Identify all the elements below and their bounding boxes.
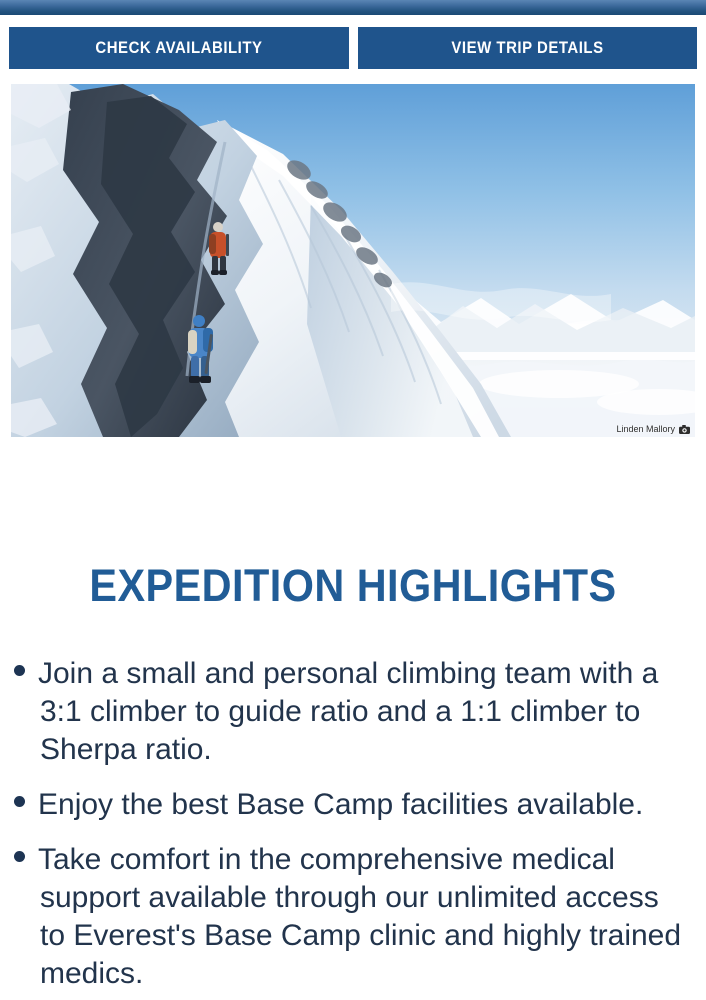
highlight-text: Take comfort in the comprehensive medica… <box>38 843 681 990</box>
page-root: Check Availability View Trip Details <box>0 0 706 1000</box>
hero-photo-graphic <box>11 84 695 437</box>
page-title: Expedition Highlights <box>28 560 678 612</box>
photo-credit-text: Linden Mallory <box>616 425 675 434</box>
view-trip-details-button[interactable]: View Trip Details <box>358 27 698 69</box>
hero-photo[interactable]: Linden Mallory <box>11 84 695 437</box>
highlight-text: Enjoy the best Base Camp facilities avai… <box>38 788 643 821</box>
bullet-icon <box>14 796 25 807</box>
camera-icon <box>679 425 690 434</box>
list-item: Take comfort in the comprehensive medica… <box>14 841 692 993</box>
check-availability-button[interactable]: Check Availability <box>9 27 349 69</box>
list-item: Join a small and personal climbing team … <box>14 655 692 769</box>
gradient-header-bar <box>0 0 706 15</box>
highlight-text: Join a small and personal climbing team … <box>38 657 658 766</box>
bullet-icon <box>14 665 25 676</box>
list-item: Enjoy the best Base Camp facilities avai… <box>14 786 692 824</box>
check-availability-label: Check Availability <box>95 38 262 58</box>
expedition-highlights-list: Join a small and personal climbing team … <box>0 655 706 1000</box>
cta-button-row: Check Availability View Trip Details <box>0 27 706 69</box>
view-trip-details-label: View Trip Details <box>451 38 603 58</box>
photo-credit: Linden Mallory <box>616 425 690 434</box>
bullet-icon <box>14 851 25 862</box>
